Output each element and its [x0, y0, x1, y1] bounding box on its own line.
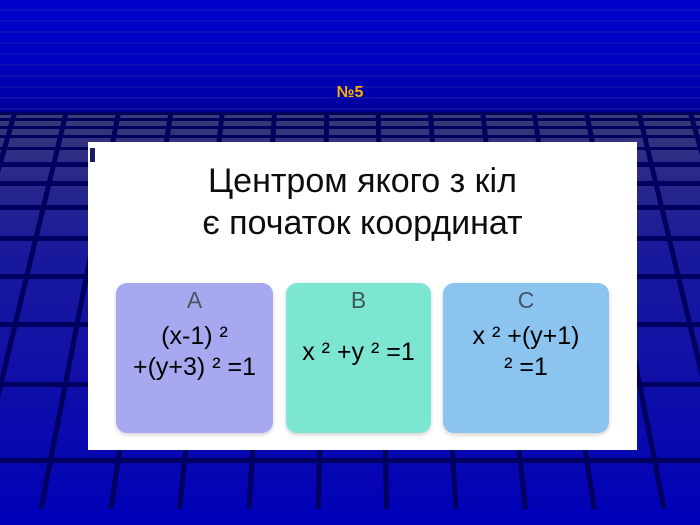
slide-number: №5	[0, 84, 700, 102]
presentation-slide: №5 Центром якого з кіл є початок координ…	[0, 0, 700, 525]
background-sky-gridlines	[0, 0, 700, 122]
answer-option-b-formula: x ² +y ² =1	[286, 337, 431, 368]
answer-option-b-letter: B	[286, 287, 431, 314]
answer-option-a-letter: A	[116, 287, 273, 314]
answer-option-a-formula: (x-1) ² +(y+3) ² =1	[116, 321, 273, 383]
question-card: Центром якого з кіл є початок координат …	[88, 142, 637, 450]
question-text: Центром якого з кіл є початок координат	[88, 160, 637, 244]
answer-option-c-letter: C	[443, 287, 609, 314]
floor-bottom-band	[0, 509, 700, 525]
answer-options-group: A (x-1) ² +(y+3) ² =1 B x ² +y ² =1 C x …	[116, 283, 609, 433]
card-edge-artifact	[90, 148, 95, 162]
answer-option-a[interactable]: A (x-1) ² +(y+3) ² =1	[116, 283, 273, 433]
answer-option-c[interactable]: C x ² +(y+1) ² =1	[443, 283, 609, 433]
answer-option-c-formula: x ² +(y+1) ² =1	[443, 321, 609, 383]
answer-option-b[interactable]: B x ² +y ² =1	[286, 283, 431, 433]
